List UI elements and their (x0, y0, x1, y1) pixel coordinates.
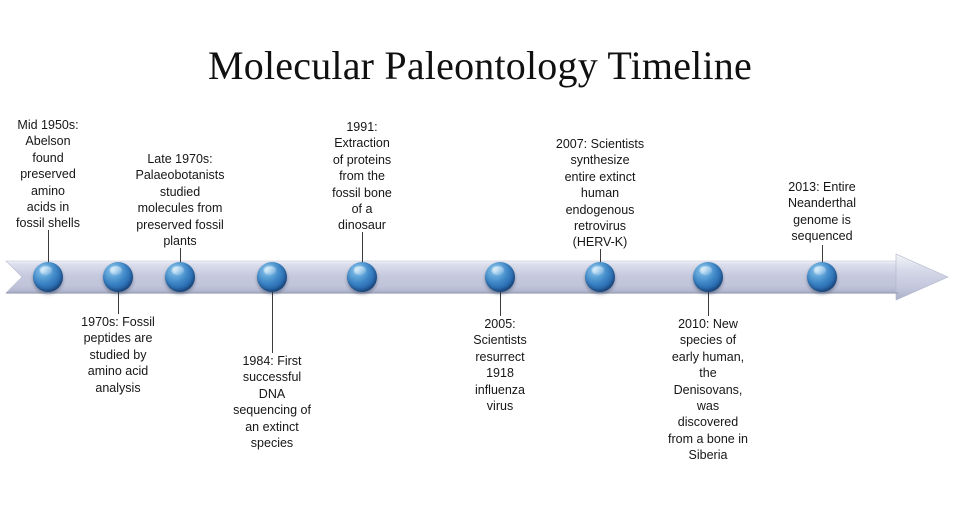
event-label-2010: 2010: New species of early human, the De… (618, 316, 798, 464)
event-label-1991: 1991: Extraction of proteins from the fo… (272, 119, 452, 234)
page-title: Molecular Paleontology Timeline (0, 42, 960, 89)
connector-line-1970s (118, 290, 119, 314)
arrow-body (6, 261, 898, 293)
event-label-late-1970s: Late 1970s: Palaeobotanists studied mole… (90, 151, 270, 249)
timeline-node-late-1970s[interactable] (165, 262, 195, 292)
connector-line-mid-1950s (48, 230, 49, 264)
timeline-node-mid-1950s[interactable] (33, 262, 63, 292)
event-label-2005: 2005: Scientists resurrect 1918 influenz… (410, 316, 590, 414)
connector-line-2010 (708, 290, 709, 316)
event-label-1970s: 1970s: Fossil peptides are studied by am… (28, 314, 208, 396)
timeline-node-1970s[interactable] (103, 262, 133, 292)
arrow-shadow (6, 292, 898, 294)
timeline-node-2005[interactable] (485, 262, 515, 292)
timeline-node-1991[interactable] (347, 262, 377, 292)
timeline-node-2007[interactable] (585, 262, 615, 292)
connector-line-1991 (362, 232, 363, 264)
timeline-diagram: Molecular Paleontology Timeline (0, 0, 960, 522)
event-label-1984: 1984: First successful DNA sequencing of… (182, 353, 362, 451)
connector-line-1984 (272, 290, 273, 353)
connector-line-2005 (500, 290, 501, 316)
arrow-head (896, 254, 948, 300)
timeline-node-1984[interactable] (257, 262, 287, 292)
timeline-node-2010[interactable] (693, 262, 723, 292)
event-label-2013: 2013: Entire Neanderthal genome is seque… (732, 179, 912, 245)
event-label-2007: 2007: Scientists synthesize entire extin… (510, 136, 690, 251)
timeline-node-2013[interactable] (807, 262, 837, 292)
